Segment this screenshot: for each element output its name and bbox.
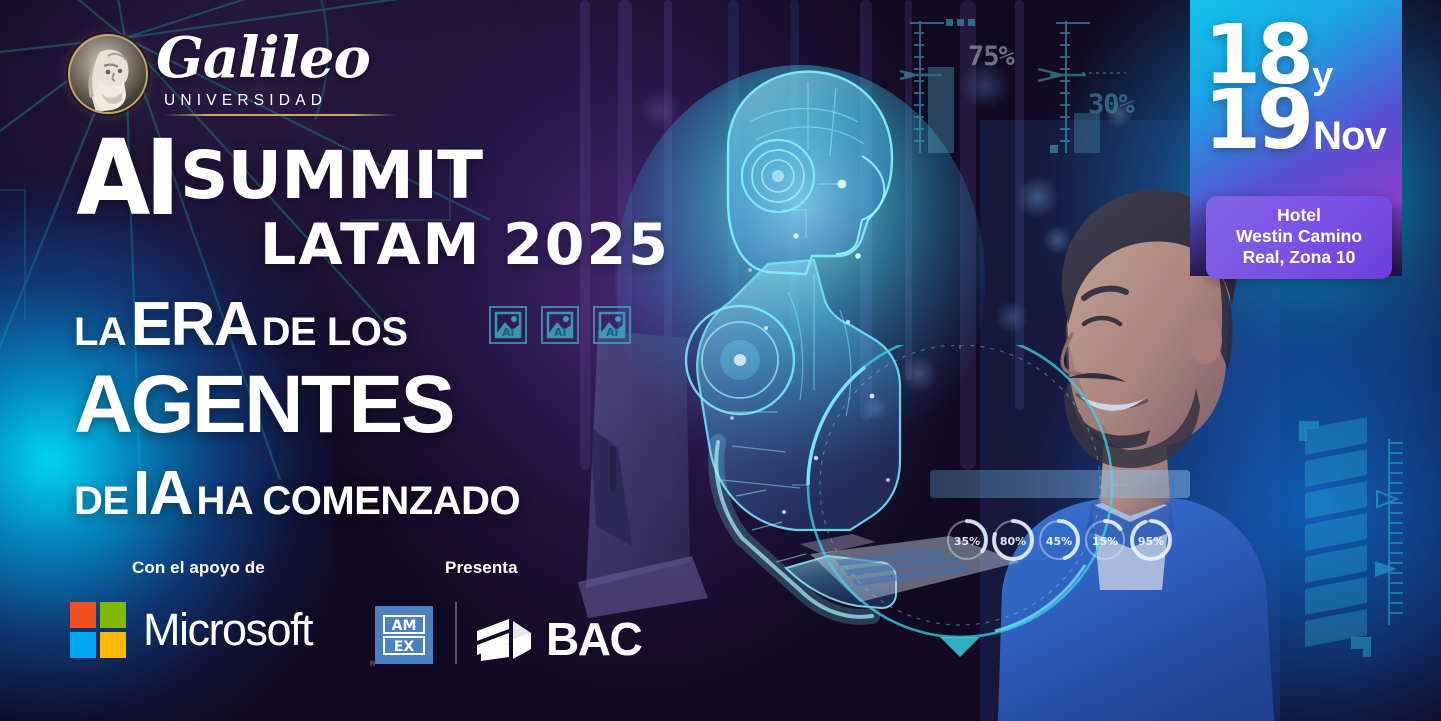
- microsoft-squares-icon: [70, 602, 126, 658]
- event-tagline: LA ERA DE LOS AGENTES DE IA HA COMENZADO: [74, 296, 634, 541]
- event-title: AI SUMMIT LATAM 2025: [72, 134, 672, 278]
- venue-line-2: Westin Camino: [1214, 226, 1384, 247]
- logo-underline: [164, 114, 396, 116]
- sponsor-section: Con el apoyo de Presenta Microsoft AM EX…: [70, 558, 630, 688]
- microsoft-square-blue: [70, 632, 96, 658]
- event-promo-banner: 35%80%45%15%95%: [0, 0, 1441, 721]
- venue-badge[interactable]: Hotel Westin Camino Real, Zona 10: [1206, 196, 1392, 279]
- tagline-era: ERA: [131, 290, 257, 359]
- tagline-la: LA: [74, 310, 126, 354]
- tagline-de: DE: [74, 479, 129, 523]
- date-month: Nov: [1313, 120, 1386, 154]
- tagline-ha-comenzado: HA COMENZADO: [196, 479, 520, 523]
- event-date-panel: 18 y 19 Nov Hotel Westin Camino Real, Zo…: [1190, 0, 1441, 721]
- amex-text-am: AM: [392, 618, 417, 634]
- venue-line-1: Hotel: [1214, 205, 1384, 226]
- bac-logo[interactable]: BAC: [475, 612, 641, 666]
- sponsor-divider: [455, 602, 457, 664]
- presents-label: Presenta: [445, 558, 518, 578]
- microsoft-square-yellow: [100, 632, 126, 658]
- microsoft-logo[interactable]: Microsoft: [70, 602, 312, 658]
- venue-line-3: Real, Zona 10: [1214, 247, 1384, 268]
- support-label: Con el apoyo de: [132, 558, 265, 578]
- event-dates: 18 y 19 Nov: [1204, 22, 1394, 156]
- bac-wordmark: BAC: [546, 612, 641, 666]
- galileo-university-logo[interactable]: Galileo UNIVERSIDAD: [68, 28, 398, 120]
- title-latam-year: LATAM 2025: [260, 212, 672, 278]
- microsoft-wordmark: Microsoft: [143, 604, 312, 656]
- amex-registered-mark: ®: [370, 661, 375, 668]
- title-ai: AI: [76, 134, 175, 223]
- microsoft-square-green: [100, 602, 126, 628]
- amex-text-ex: EX: [394, 639, 415, 655]
- date-conjunction: y: [1312, 61, 1333, 93]
- microsoft-square-red: [70, 602, 96, 628]
- amex-icon: AM EX: [375, 606, 433, 664]
- logo-subtitle: UNIVERSIDAD: [164, 92, 327, 110]
- tagline-ia: IA: [133, 459, 192, 528]
- bac-mark-icon: [475, 615, 535, 663]
- galileo-bust-icon: [68, 34, 148, 114]
- date-day-2: 19: [1204, 87, 1310, 156]
- tagline-de-los: DE LOS: [262, 310, 408, 354]
- amex-logo[interactable]: AM EX: [375, 606, 433, 664]
- tagline-agentes: AGENTES: [74, 359, 453, 450]
- title-summit: SUMMIT: [180, 140, 482, 213]
- logo-wordmark: Galileo: [156, 30, 370, 86]
